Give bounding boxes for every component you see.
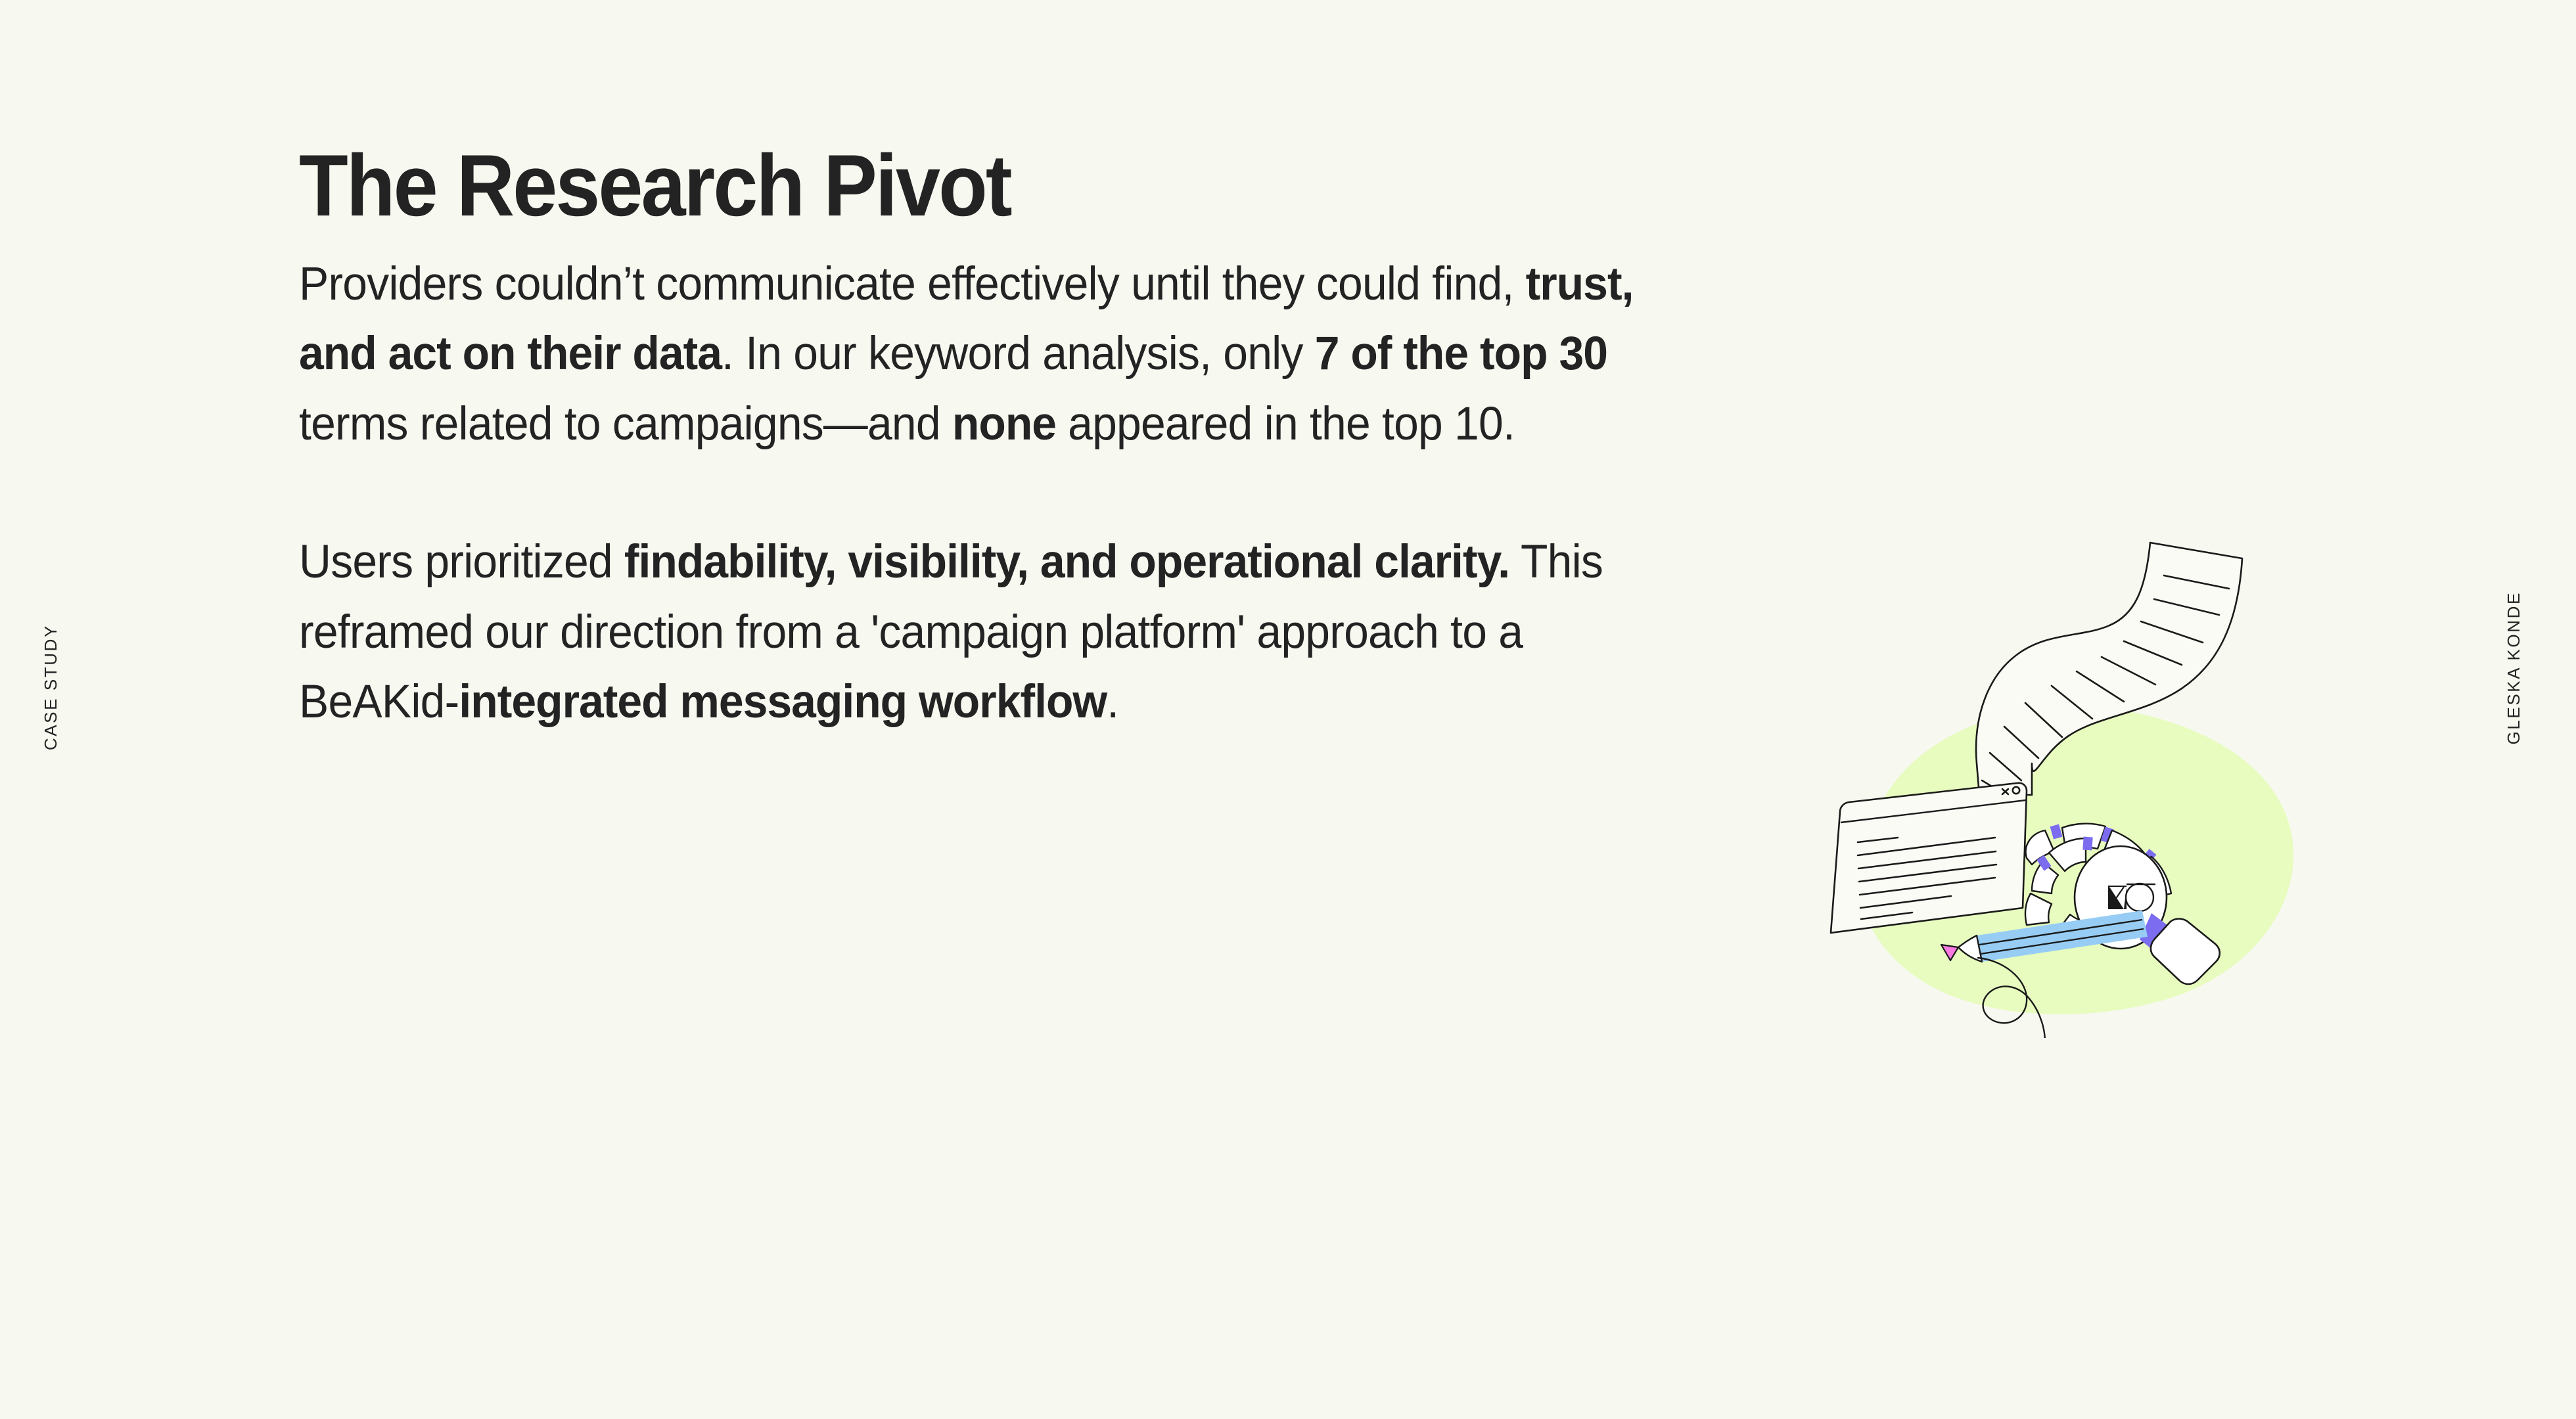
para1-emphasis-none: none — [952, 398, 1056, 450]
content-column: The Research Pivot Providers couldn’t co… — [299, 141, 1718, 738]
para1-seg7: appeared in the top 10. — [1056, 398, 1515, 450]
para2-seg5: . — [1107, 676, 1118, 728]
case-study-label: CASE STUDY — [41, 624, 61, 750]
para1-emphasis-stat: 7 of the top 30 — [1315, 328, 1607, 380]
para2-seg1: Users prioritized — [299, 536, 624, 588]
brand-label: GLESKA KONDE — [2504, 591, 2524, 745]
para2-emphasis-workflow: integrated messaging workflow — [459, 676, 1107, 728]
para1-seg1: Providers couldn’t communicate effective… — [299, 258, 1526, 310]
paragraph-two: Users prioritized findability, visibilit… — [299, 528, 1655, 738]
para2-emphasis-priorities: findability, visibility, and operational… — [624, 536, 1509, 588]
browser-window — [1831, 783, 2027, 933]
page-title: The Research Pivot — [299, 141, 1605, 231]
para1-seg5: terms related to campaigns—and — [299, 398, 952, 450]
research-desk-illustration — [1801, 519, 2313, 1038]
para1-seg3: . In our keyword analysis, only — [722, 328, 1315, 380]
paragraph-one: Providers couldn’t communicate effective… — [299, 250, 1655, 460]
